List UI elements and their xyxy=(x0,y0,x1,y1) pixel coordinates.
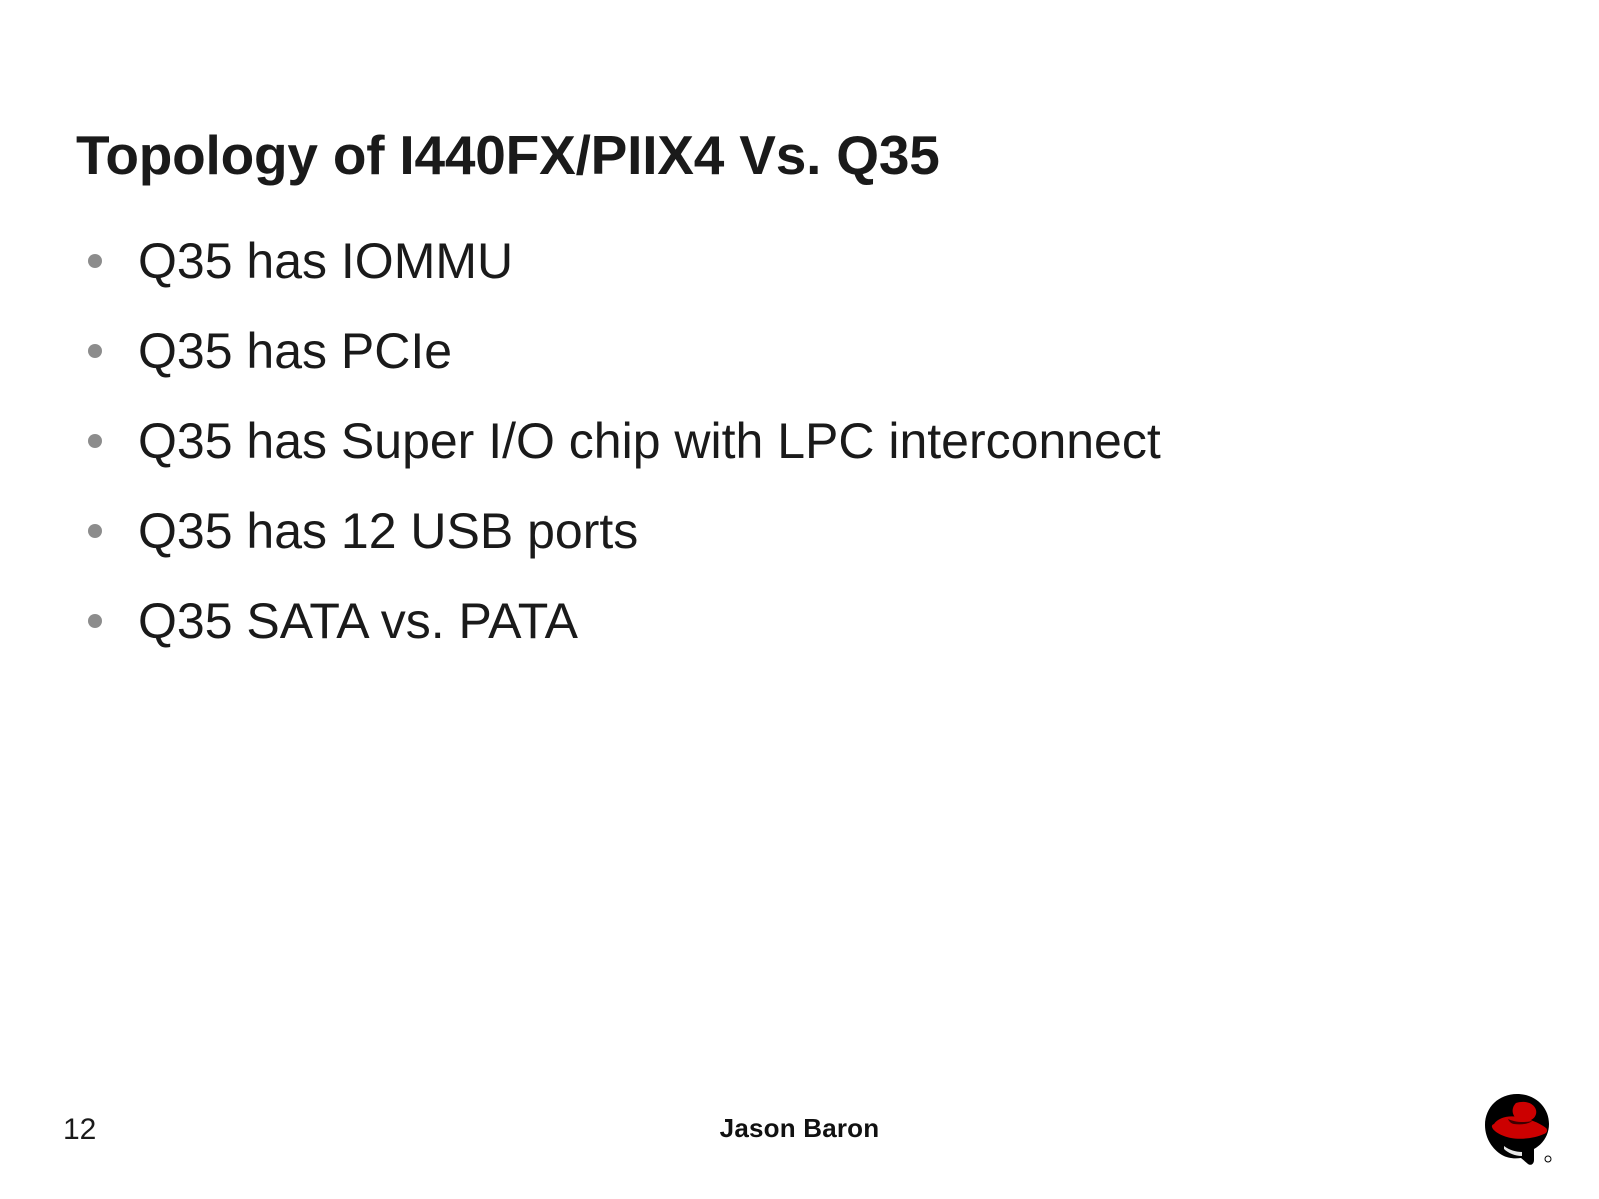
bullet-dot-icon xyxy=(88,524,102,538)
list-item: Q35 has Super I/O chip with LPC intercon… xyxy=(88,408,1508,498)
list-item-label: Q35 has 12 USB ports xyxy=(138,498,1508,564)
presentation-slide: Topology of I440FX/PIIX4 Vs. Q35 Q35 has… xyxy=(0,0,1599,1199)
list-item-label: Q35 has IOMMU xyxy=(138,228,1508,294)
bullet-dot-icon xyxy=(88,254,102,268)
page-title: Topology of I440FX/PIIX4 Vs. Q35 xyxy=(76,125,1476,186)
bullet-dot-icon xyxy=(88,344,102,358)
list-item-label: Q35 has Super I/O chip with LPC intercon… xyxy=(138,408,1508,474)
bullet-dot-icon xyxy=(88,434,102,448)
list-item-label: Q35 SATA vs. PATA xyxy=(138,588,1508,654)
list-item: Q35 has 12 USB ports xyxy=(88,498,1508,588)
bullet-dot-icon xyxy=(88,614,102,628)
list-item-label: Q35 has PCIe xyxy=(138,318,1508,384)
footer-author: Jason Baron xyxy=(0,1113,1599,1144)
bullet-list: Q35 has IOMMU Q35 has PCIe Q35 has Super… xyxy=(88,228,1508,678)
list-item: Q35 has PCIe xyxy=(88,318,1508,408)
list-item: Q35 SATA vs. PATA xyxy=(88,588,1508,678)
list-item: Q35 has IOMMU xyxy=(88,228,1508,318)
red-hat-shadowman-logo-icon xyxy=(1478,1086,1556,1172)
